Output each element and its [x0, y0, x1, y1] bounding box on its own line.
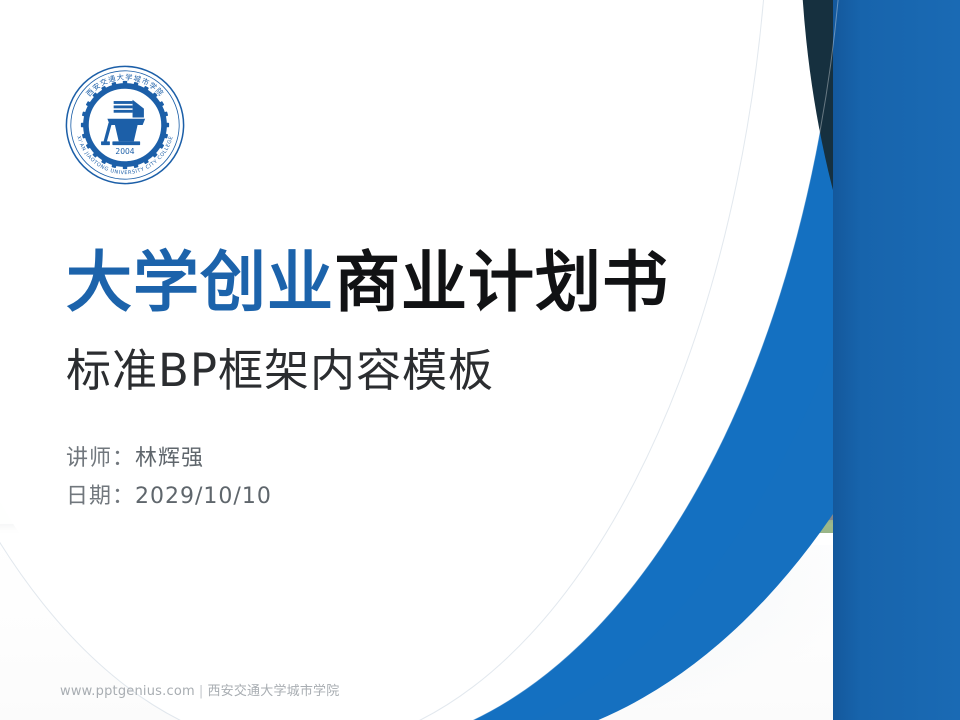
- date-value: 2029/10/10: [135, 484, 272, 509]
- university-seal-icon: 2004 西安交通大学城市学院 XI'AN JIAOTONG UNIVERSIT…: [62, 62, 188, 188]
- seal-year: 2004: [115, 147, 134, 156]
- presenter-row: 讲师：林辉强: [66, 440, 272, 478]
- university-logo: 2004 西安交通大学城市学院 XI'AN JIAOTONG UNIVERSIT…: [62, 62, 188, 188]
- presenter-value: 林辉强: [135, 446, 204, 471]
- footer-org: 西安交通大学城市学院: [207, 684, 339, 699]
- slide-title-highlight: 大学创业: [66, 244, 334, 321]
- right-blue-strip: [833, 0, 960, 720]
- date-label: 日期：: [66, 484, 135, 509]
- slide-subtitle: 标准BP框架内容模板: [66, 348, 494, 393]
- slide-footer: www.pptgenius.com|西安交通大学城市学院: [60, 680, 339, 699]
- slide-title: 大学创业商业计划书: [66, 250, 669, 316]
- footer-separator: |: [199, 684, 204, 699]
- footer-site[interactable]: www.pptgenius.com: [60, 684, 195, 699]
- presenter-label: 讲师：: [66, 446, 135, 471]
- slide-title-rest: 商业计划书: [334, 244, 669, 321]
- slide-meta: 讲师：林辉强 日期：2029/10/10: [66, 440, 272, 516]
- presentation-cover-slide: 城: [0, 0, 960, 720]
- date-row: 日期：2029/10/10: [66, 478, 272, 516]
